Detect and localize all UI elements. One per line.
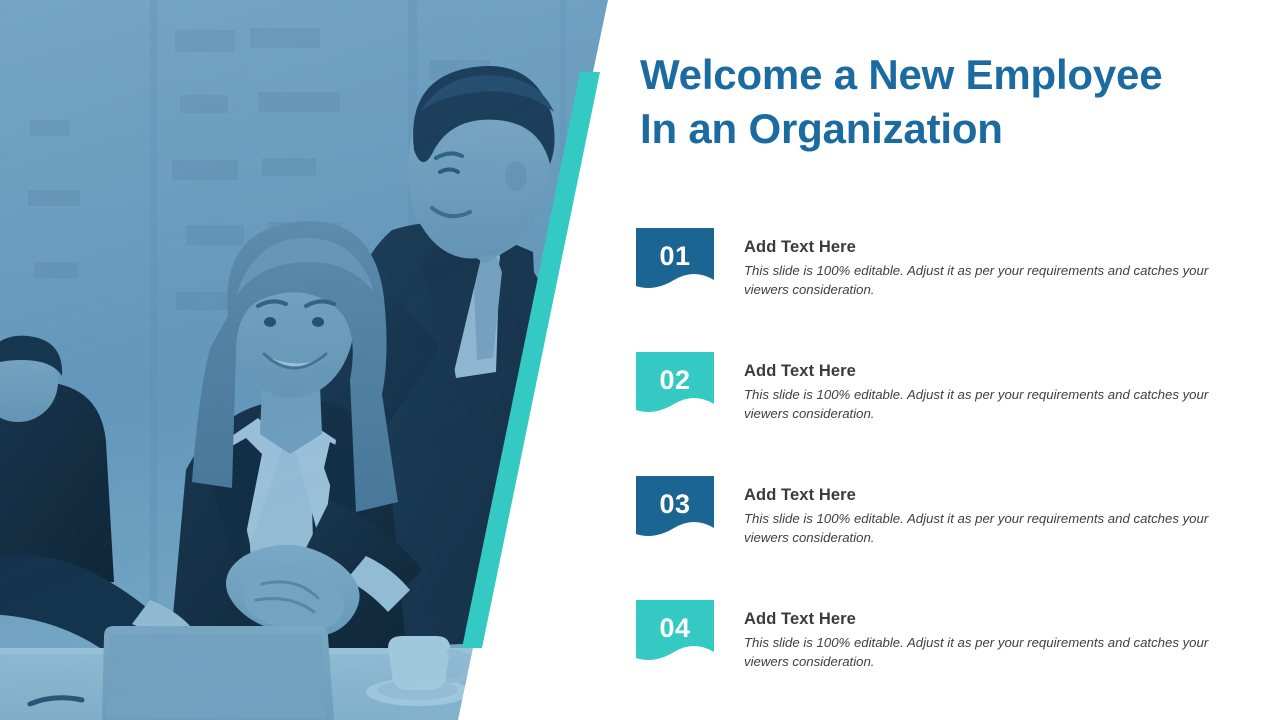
number-badge-01: 01 xyxy=(636,228,714,294)
feature-list: 01 Add Text Here This slide is 100% edit… xyxy=(636,228,1280,720)
badge-number: 02 xyxy=(636,352,714,408)
list-item-body: This slide is 100% editable. Adjust it a… xyxy=(744,385,1230,423)
list-item-body: This slide is 100% editable. Adjust it a… xyxy=(744,261,1230,299)
list-item[interactable]: 01 Add Text Here This slide is 100% edit… xyxy=(636,228,1280,352)
slide-canvas: Welcome a New Employee In an Organizatio… xyxy=(0,0,1280,720)
hero-photo-illustration xyxy=(0,0,640,720)
badge-number: 01 xyxy=(636,228,714,284)
list-item-body: This slide is 100% editable. Adjust it a… xyxy=(744,509,1230,547)
list-item[interactable]: 02 Add Text Here This slide is 100% edit… xyxy=(636,352,1280,476)
list-item-text: Add Text Here This slide is 100% editabl… xyxy=(744,362,1230,423)
list-item[interactable]: 03 Add Text Here This slide is 100% edit… xyxy=(636,476,1280,600)
list-item-body: This slide is 100% editable. Adjust it a… xyxy=(744,633,1230,671)
list-item-text: Add Text Here This slide is 100% editabl… xyxy=(744,610,1230,671)
page-title-line-2: In an Organization xyxy=(640,102,1252,156)
list-item-heading: Add Text Here xyxy=(744,362,1230,381)
list-item-heading: Add Text Here xyxy=(744,238,1230,257)
page-title-line-1: Welcome a New Employee xyxy=(640,48,1252,102)
list-item[interactable]: 04 Add Text Here This slide is 100% edit… xyxy=(636,600,1280,720)
list-item-text: Add Text Here This slide is 100% editabl… xyxy=(744,238,1230,299)
badge-number: 03 xyxy=(636,476,714,532)
list-item-text: Add Text Here This slide is 100% editabl… xyxy=(744,486,1230,547)
number-badge-02: 02 xyxy=(636,352,714,418)
number-badge-03: 03 xyxy=(636,476,714,542)
page-title: Welcome a New Employee In an Organizatio… xyxy=(640,48,1252,156)
badge-number: 04 xyxy=(636,600,714,656)
content-panel: Welcome a New Employee In an Organizatio… xyxy=(636,0,1280,720)
number-badge-04: 04 xyxy=(636,600,714,666)
list-item-heading: Add Text Here xyxy=(744,486,1230,505)
hero-photo xyxy=(0,0,640,720)
list-item-heading: Add Text Here xyxy=(744,610,1230,629)
